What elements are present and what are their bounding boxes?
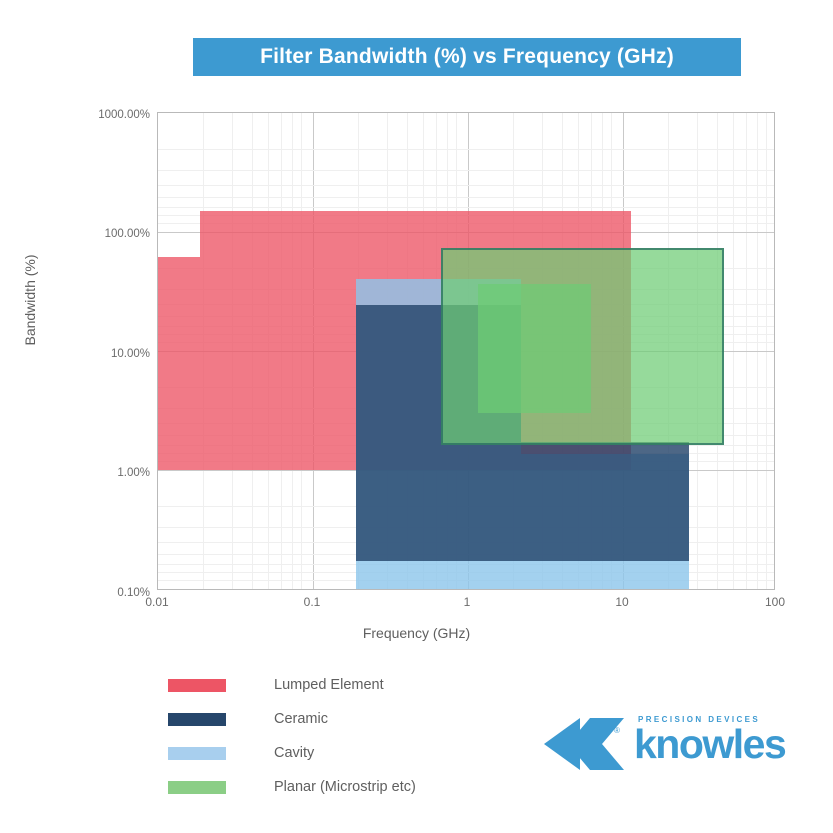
legend-item-ceramic[interactable]: Ceramic xyxy=(168,702,416,736)
x-tick-label: 100 xyxy=(765,595,785,609)
y-tick-label: 1.00% xyxy=(117,467,150,479)
legend: Lumped Element Ceramic Cavity Planar (Mi… xyxy=(168,668,416,804)
logo-wordmark: knowles xyxy=(634,724,785,765)
x-tick-label: 0.1 xyxy=(304,595,321,609)
legend-item-planar[interactable]: Planar (Microstrip etc) xyxy=(168,770,416,804)
legend-label: Planar (Microstrip etc) xyxy=(274,779,416,795)
plot-area xyxy=(157,112,775,590)
y-axis-title: Bandwidth (%) xyxy=(22,254,38,345)
y-tick-label: 1000.00% xyxy=(98,109,150,121)
legend-item-cavity[interactable]: Cavity xyxy=(168,736,416,770)
legend-swatch xyxy=(168,781,226,794)
legend-label: Cavity xyxy=(274,745,314,761)
legend-swatch xyxy=(168,747,226,760)
x-tick-label: 0.01 xyxy=(145,595,168,609)
y-tick-label: 100.00% xyxy=(105,228,150,240)
chart-title-band: Filter Bandwidth (%) vs Frequency (GHz) xyxy=(193,38,741,76)
registered-mark: ® xyxy=(614,726,620,735)
x-tick-label: 10 xyxy=(615,595,628,609)
x-tick-label: 1 xyxy=(464,595,471,609)
legend-swatch xyxy=(168,679,226,692)
region-ceramic xyxy=(521,442,689,561)
chart-root: Filter Bandwidth (%) vs Frequency (GHz) … xyxy=(0,0,833,833)
legend-label: Lumped Element xyxy=(274,677,384,693)
series-layer xyxy=(158,113,774,589)
legend-label: Ceramic xyxy=(274,711,328,727)
legend-swatch xyxy=(168,713,226,726)
knowles-logo: ® PRECISION DEVICES knowles xyxy=(540,712,790,774)
page-title: Filter Bandwidth (%) vs Frequency (GHz) xyxy=(260,45,674,69)
region-lumped-element xyxy=(158,257,200,470)
legend-item-lumped-element[interactable]: Lumped Element xyxy=(168,668,416,702)
region-planar-core xyxy=(478,284,591,413)
knowles-chevron-icon xyxy=(540,718,624,770)
x-axis-title: Frequency (GHz) xyxy=(0,625,833,641)
y-tick-label: 10.00% xyxy=(111,348,150,360)
